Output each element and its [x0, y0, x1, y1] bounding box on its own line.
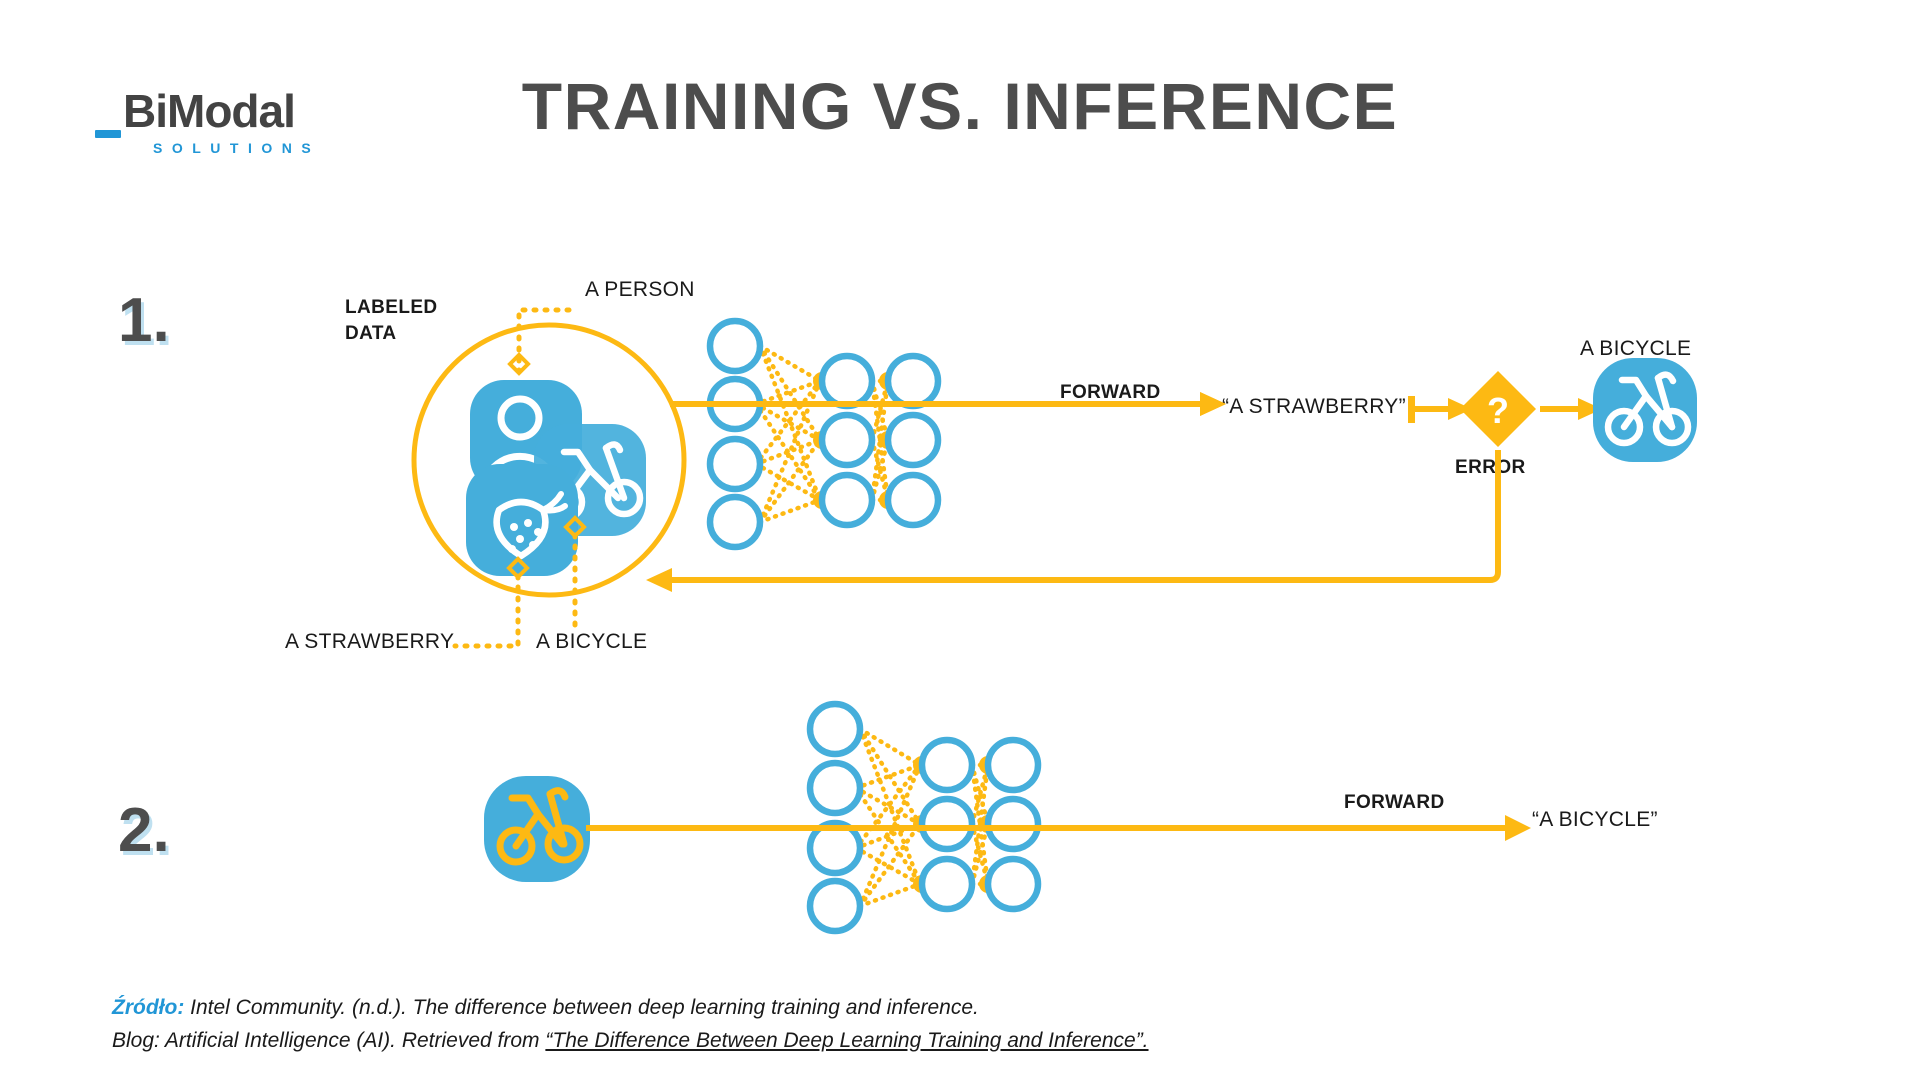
diagram-canvas: ?: [0, 0, 1920, 1080]
source-text-1: Intel Community. (n.d.). The difference …: [184, 996, 979, 1019]
inference-diagram: [484, 704, 1531, 931]
source-label: Źródło:: [112, 996, 184, 1019]
svg-text:?: ?: [1487, 390, 1509, 431]
backward-error-path: [646, 450, 1498, 592]
neural-network-inference: [586, 704, 1531, 931]
error-diamond-icon[interactable]: ?: [1460, 371, 1536, 447]
source-line-1: Źródło: Intel Community. (n.d.). The dif…: [112, 992, 1612, 1025]
neural-network-training: [670, 321, 1226, 547]
ground-truth-bicycle-icon: [1593, 358, 1697, 462]
source-citation: Źródło: Intel Community. (n.d.). The dif…: [112, 992, 1612, 1057]
source-line-2: Blog: Artificial Intelligence (AI). Retr…: [112, 1025, 1612, 1058]
input-bicycle-icon: [484, 776, 590, 882]
training-diagram: ?: [414, 310, 1697, 646]
strawberry-icon: [466, 464, 578, 576]
source-link[interactable]: “The Difference Between Deep Learning Tr…: [545, 1029, 1148, 1052]
error-to-groundtruth-arrow: [1540, 398, 1602, 420]
source-text-2: Blog: Artificial Intelligence (AI). Retr…: [112, 1029, 545, 1052]
callout-line-a-person: [510, 310, 575, 373]
